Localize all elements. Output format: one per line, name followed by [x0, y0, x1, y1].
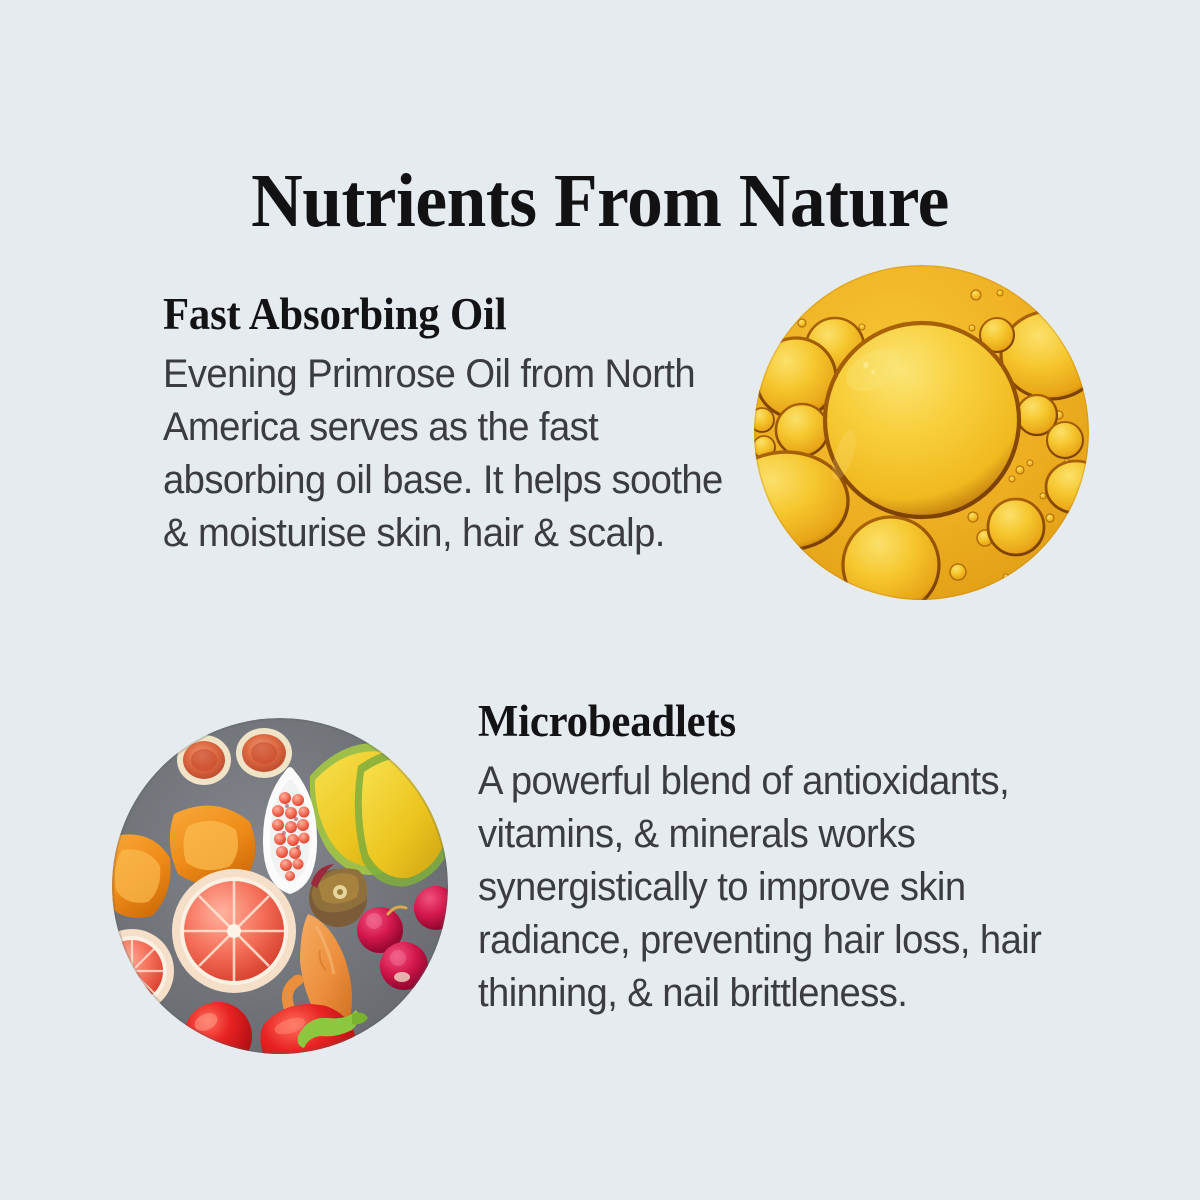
fruits-vegetables-photo: [112, 718, 448, 1054]
section-body-microbeadlets: A powerful blend of antioxidants, vitami…: [478, 755, 1061, 1020]
section-microbeadlets: Microbeadlets A powerful blend of antiox…: [478, 698, 1088, 1020]
section-heading-fast-absorbing-oil: Fast Absorbing Oil: [163, 291, 733, 338]
section-fast-absorbing-oil: Fast Absorbing Oil Evening Primrose Oil …: [163, 291, 763, 560]
page-title: Nutrients From Nature: [36, 163, 1164, 239]
section-heading-microbeadlets: Microbeadlets: [478, 698, 1058, 745]
section-body-fast-absorbing-oil: Evening Primrose Oil from North America …: [163, 348, 736, 560]
poster-canvas: Nutrients From Nature Fast Absorbing Oil…: [0, 0, 1200, 1200]
oil-bubbles-photo: [754, 265, 1089, 600]
